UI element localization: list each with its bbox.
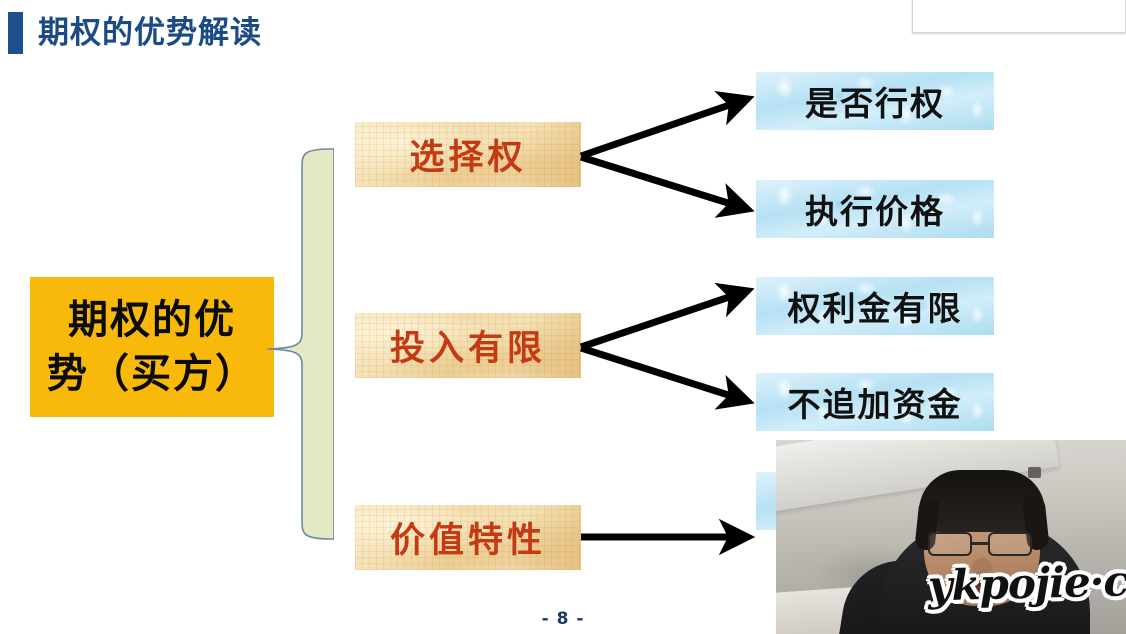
leaf-node-3[interactable]: 权利金有限 [756,277,994,335]
slide-canvas: 期权的优势解读 期权的优 势（买方） 选择权 投入有限 价值特性 是否行权 执行… [0,0,1126,634]
watermark-text: ykpojie·com [927,554,1126,610]
branch-node-3[interactable]: 价值特性 [355,505,581,570]
curly-brace-icon [262,145,334,543]
glasses-lens-right [988,532,1032,556]
page-title: 期权的优势解读 [38,12,262,54]
webcam-wall-mark [1028,467,1041,478]
root-node[interactable]: 期权的优 势（买方） [30,277,274,417]
arrow-branch1-leaf2 [581,157,744,208]
title-accent-bar [8,12,23,54]
leaf-node-1[interactable]: 是否行权 [756,72,994,130]
arrow-branch1-leaf1 [581,100,744,156]
arrow-branch2-leaf3 [581,292,744,347]
leaf-node-4[interactable]: 不追加资金 [756,373,994,431]
leaf-node-2[interactable]: 执行价格 [756,180,994,238]
branch-node-2[interactable]: 投入有限 [355,313,581,378]
glasses-lens-left [928,532,972,556]
branch-node-1[interactable]: 选择权 [355,122,581,187]
root-node-line-1: 期权的优 [68,293,236,347]
arrow-branch2-leaf4 [581,348,744,400]
top-right-panel [912,0,1126,33]
root-node-line-2: 势（买方） [47,347,257,401]
glasses-icon [926,532,1038,556]
